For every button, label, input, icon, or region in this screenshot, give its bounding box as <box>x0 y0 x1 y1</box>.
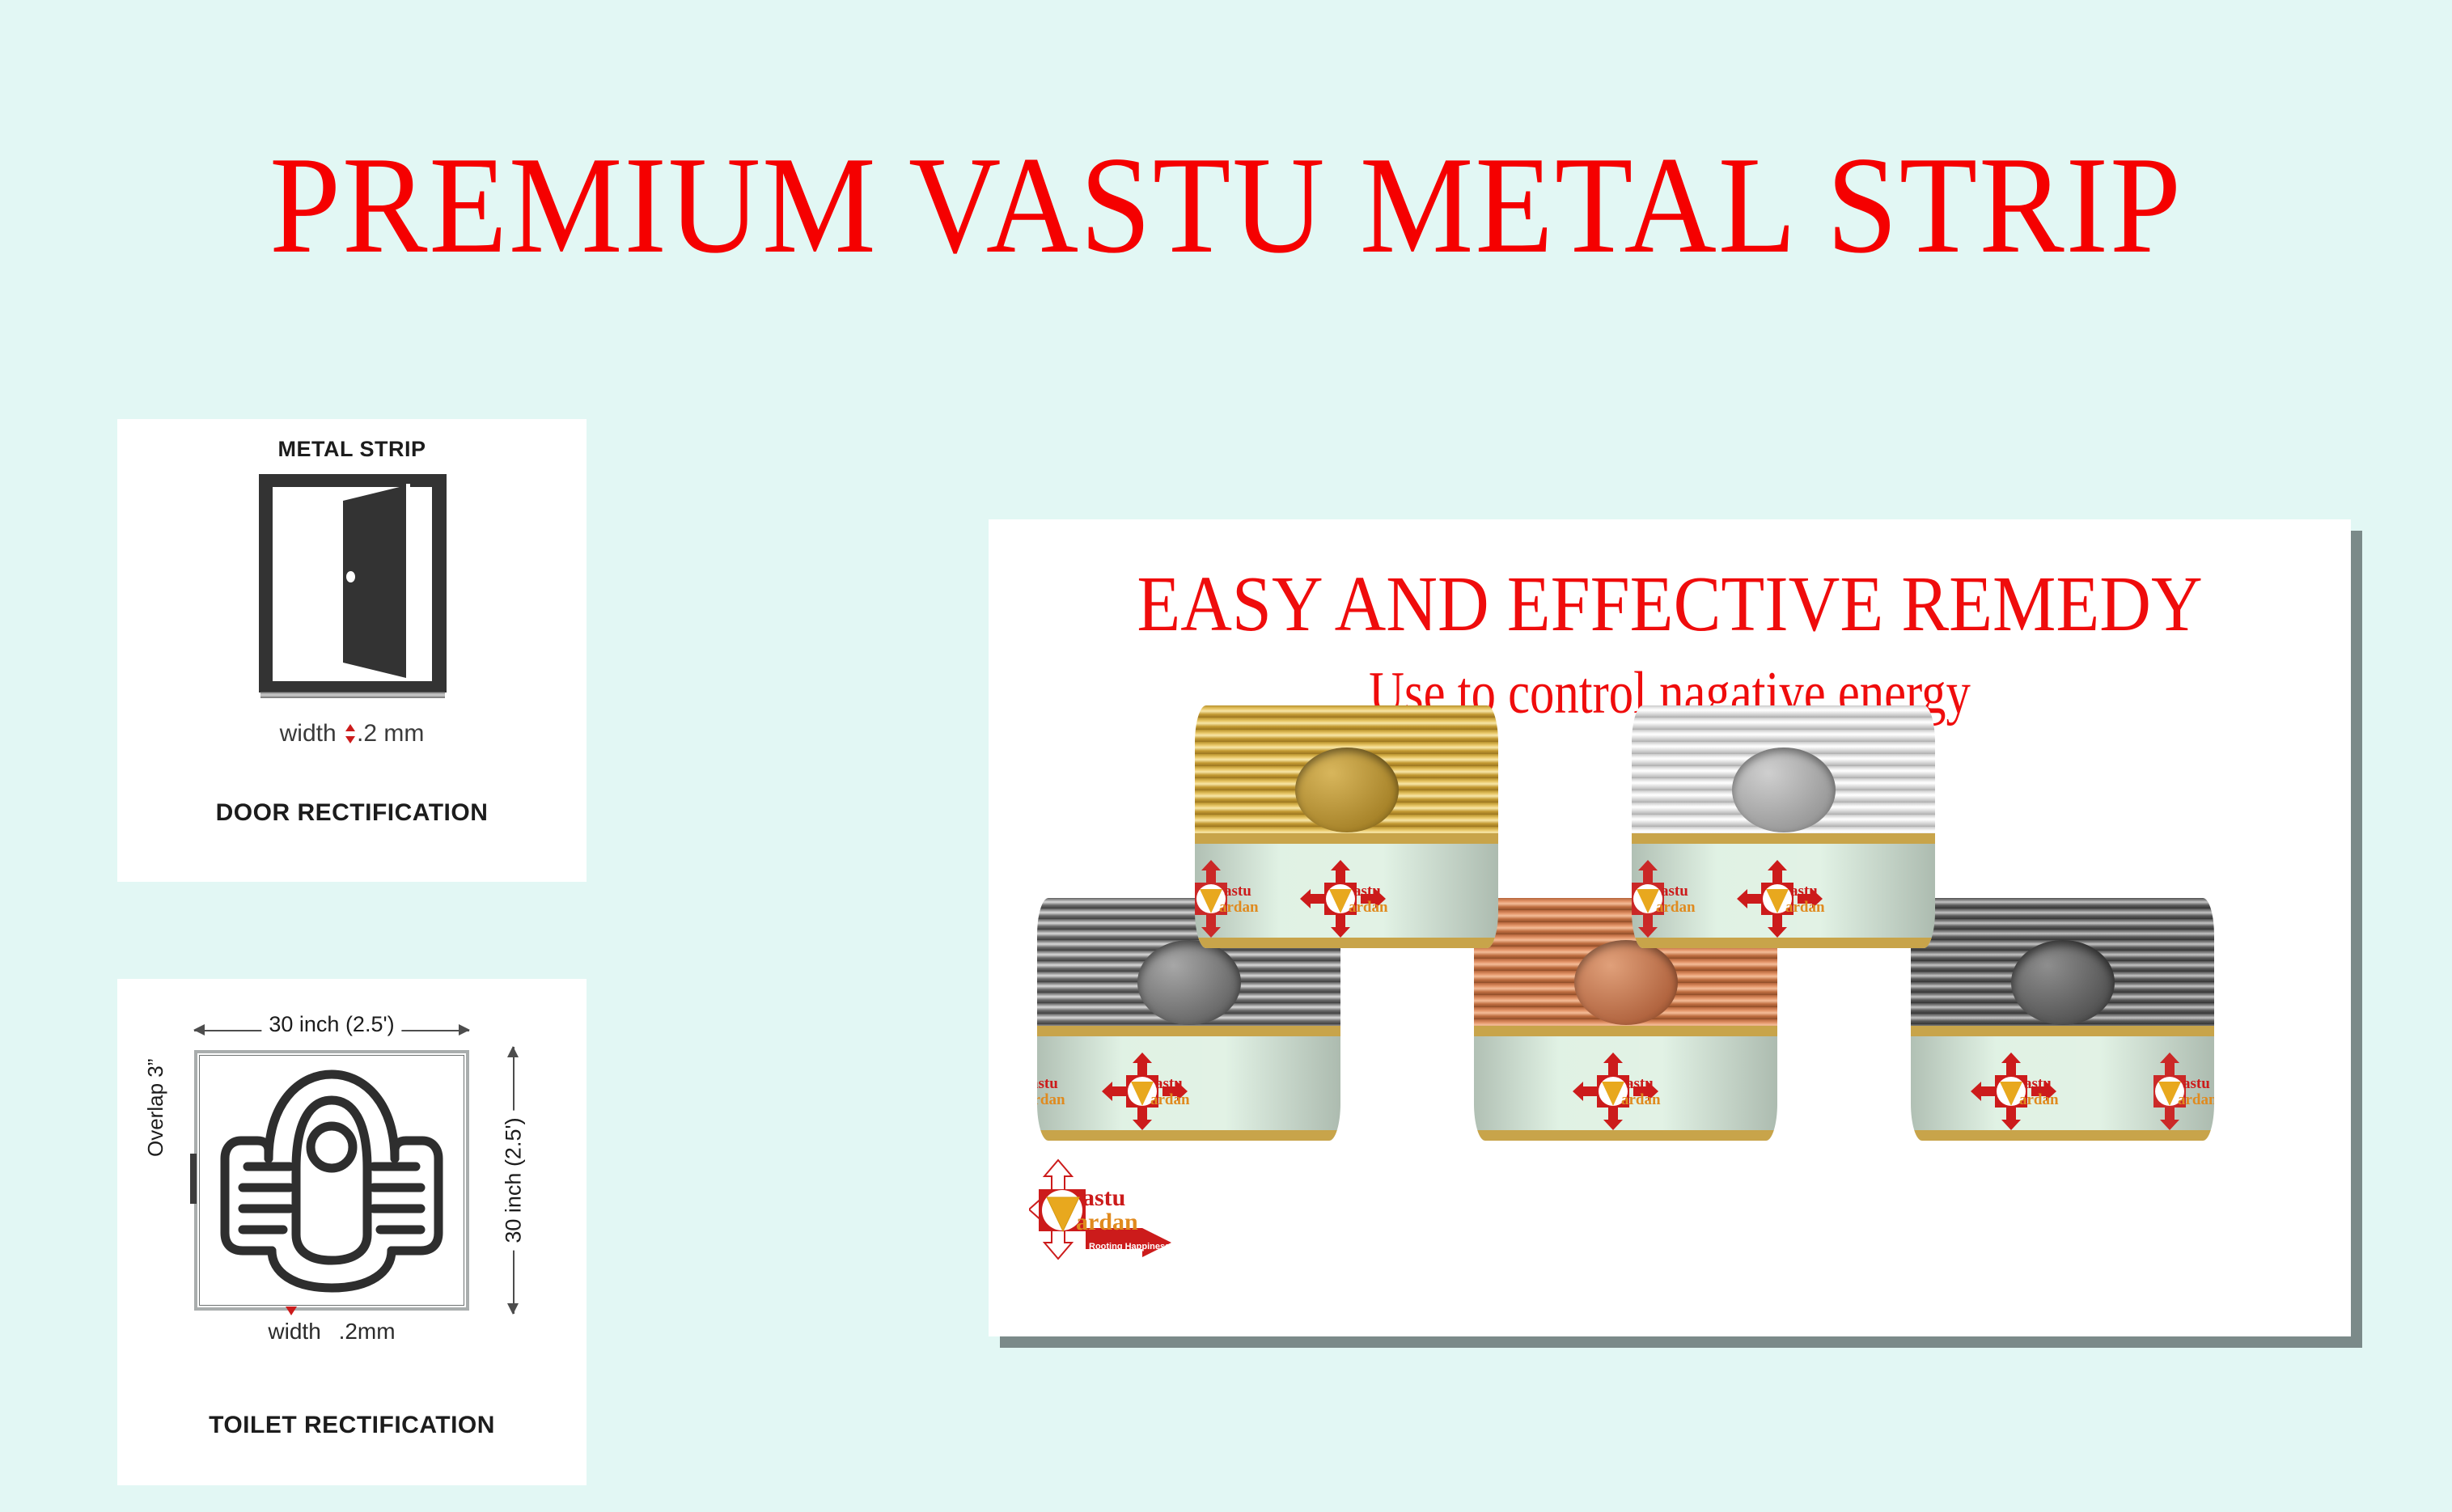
svg-text:ardan: ardan <box>1219 899 1259 916</box>
svg-text:ardan: ardan <box>1621 1091 1661 1108</box>
svg-text:ardan: ardan <box>1076 1209 1138 1235</box>
overlap-label: Overlap 3” <box>143 1059 168 1157</box>
door-card-title: DOOR RECTIFICATION <box>117 799 587 827</box>
svg-text:astu: astu <box>2024 1075 2052 1092</box>
product-photo: astu ardan astu ardan <box>1037 705 2307 1223</box>
dimension-top-label: 30 inch (2.5') <box>261 1012 401 1037</box>
metal-strip-roll-lead: astu ardan astu ardan <box>1911 898 2214 1141</box>
door-width-prefix: width <box>280 720 337 747</box>
svg-text:astu: astu <box>1224 883 1251 900</box>
roll-core-hole <box>1137 940 1241 1025</box>
svg-text:astu: astu <box>1661 883 1688 900</box>
svg-text:Rooting Happiness: Rooting Happiness <box>1089 1242 1170 1252</box>
up-down-arrow-icon <box>345 723 355 744</box>
svg-text:ardan: ardan <box>1150 1091 1190 1108</box>
toilet-diagram: 30 inch (2.5') 30 inch (2.5') Overlap 3” <box>150 1003 554 1400</box>
roll-core-hole <box>1574 940 1678 1025</box>
svg-text:ardan: ardan <box>1349 899 1388 916</box>
toilet-width-value: .2mm <box>339 1319 396 1344</box>
svg-text:ardan: ardan <box>1785 899 1825 916</box>
svg-text:astu: astu <box>1626 1075 1654 1092</box>
toilet-width-prefix: width <box>268 1319 320 1344</box>
roll-label-band: astu ardan <box>1474 1026 1777 1141</box>
roll-label-band: astu ardan astu ardan <box>1632 833 1935 948</box>
svg-text:astu: astu <box>1790 883 1818 900</box>
arrow-up-icon <box>507 1046 519 1057</box>
svg-text:astu: astu <box>1353 883 1381 900</box>
svg-text:ardan: ardan <box>2019 1091 2059 1108</box>
overlap-tick-icon <box>190 1154 197 1204</box>
svg-text:ardan: ardan <box>2178 1091 2214 1108</box>
door-diagram <box>259 474 447 692</box>
door-rectification-card: METAL STRIP width .2 mm DOOR RECTIFICATI… <box>117 419 587 882</box>
door-knob-icon <box>346 571 355 582</box>
svg-text:astu: astu <box>2183 1075 2210 1092</box>
svg-text:ardan: ardan <box>1037 1091 1065 1108</box>
poster-canvas: PREMIUM VASTU METAL STRIP METAL STRIP wi… <box>0 0 2452 1512</box>
dimension-right: 30 inch (2.5') <box>506 1047 522 1314</box>
toilet-top-view-icon <box>218 1063 445 1299</box>
toilet-card-title: TOILET RECTIFICATION <box>117 1412 587 1439</box>
svg-text:astu: astu <box>1155 1075 1183 1092</box>
metal-strip-label: METAL STRIP <box>117 437 587 462</box>
dimension-top: 30 inch (2.5') <box>194 1023 469 1039</box>
metal-strip-icon <box>260 692 445 698</box>
roll-core-hole <box>1295 748 1399 832</box>
svg-text:astu: astu <box>1082 1184 1125 1211</box>
door-width-value: .2 mm <box>357 720 424 747</box>
metal-strip-roll-silver: astu ardan astu ardan <box>1632 705 1935 948</box>
metal-strip-roll-gold: astu ardan astu ardan <box>1195 705 1498 948</box>
dimension-right-label: 30 inch (2.5') <box>502 1110 527 1250</box>
toilet-rectification-card: 30 inch (2.5') 30 inch (2.5') Overlap 3” <box>117 979 587 1485</box>
roll-core-hole <box>1732 748 1836 832</box>
page-title: PREMIUM VASTU METAL STRIP <box>98 136 2354 275</box>
arrow-left-icon <box>193 1024 205 1036</box>
panel-headline: EASY AND EFFECTIVE REMEDY <box>1057 565 2283 644</box>
roll-core-hole <box>2011 940 2115 1025</box>
svg-text:astu: astu <box>1037 1075 1058 1092</box>
brand-logo: astu ardan Rooting Happiness <box>1029 1158 1183 1280</box>
width-marker-icon <box>286 1307 297 1315</box>
svg-text:ardan: ardan <box>1656 899 1696 916</box>
arrow-down-icon <box>507 1303 519 1315</box>
door-leaf-edge <box>406 484 410 681</box>
product-panel: EASY AND EFFECTIVE REMEDY Use to control… <box>989 519 2351 1336</box>
roll-label-band: astu ardan astu ardan <box>1037 1026 1340 1141</box>
arrow-right-icon <box>459 1024 470 1036</box>
toilet-width-measure: width .2mm <box>194 1319 469 1345</box>
door-width-measure: width .2 mm <box>117 720 587 748</box>
roll-label-band: astu ardan astu ardan <box>1911 1026 2214 1141</box>
roll-label-band: astu ardan astu ardan <box>1195 833 1498 948</box>
